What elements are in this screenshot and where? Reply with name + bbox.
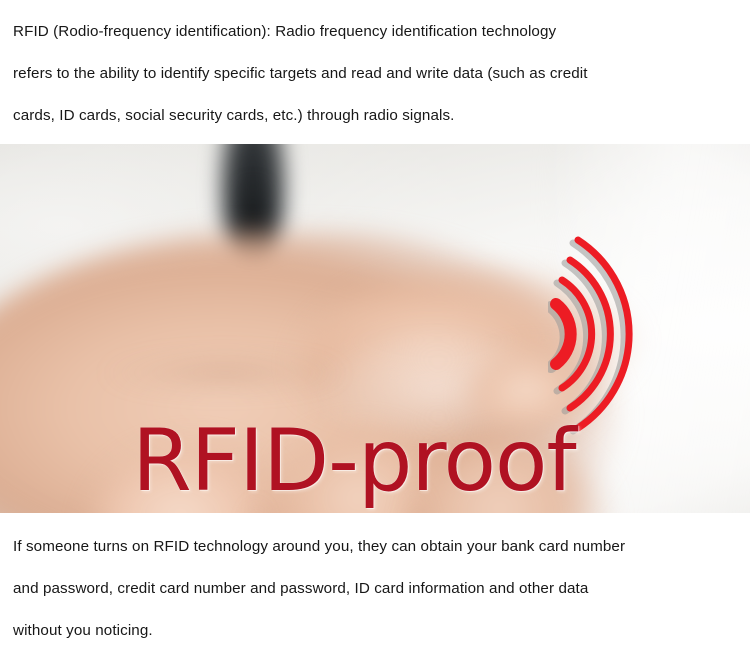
outro-line-1: If someone turns on RFID technology arou…: [13, 526, 736, 568]
rfid-definition-paragraph: RFID (Rodio-frequency identification): R…: [0, 0, 750, 144]
intro-line-3: cards, ID cards, social security cards, …: [13, 95, 736, 137]
rfid-risk-paragraph: If someone turns on RFID technology arou…: [0, 513, 750, 660]
product-description-page: RFID (Rodio-frequency identification): R…: [0, 0, 750, 660]
outro-line-2: and password, credit card number and pas…: [13, 568, 736, 610]
rfid-proof-product-photo: RFID-proof: [0, 144, 750, 513]
intro-line-2: refers to the ability to identify specif…: [13, 53, 736, 95]
outro-line-3: without you noticing.: [13, 610, 736, 652]
intro-line-1: RFID (Rodio-frequency identification): R…: [13, 11, 736, 53]
rfid-proof-wordmark: RFID-proof: [132, 418, 575, 504]
